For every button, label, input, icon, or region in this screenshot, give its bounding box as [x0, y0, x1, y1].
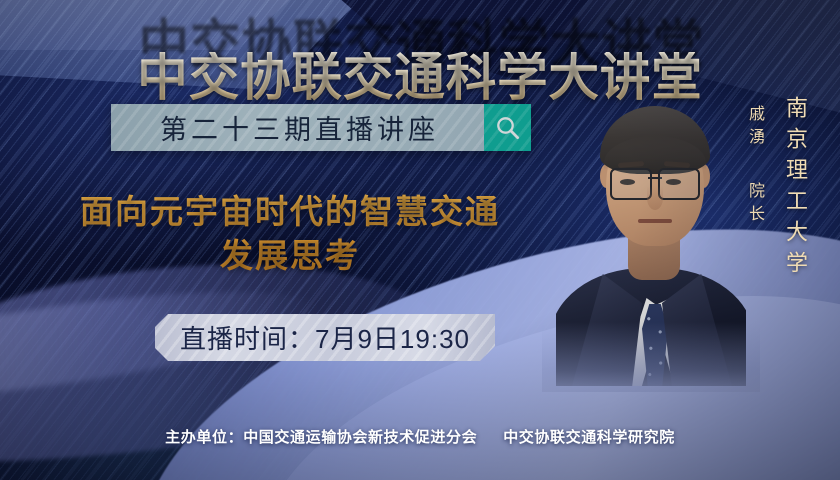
portrait-figure — [556, 86, 746, 386]
speaker-organization: 南京理工大学 — [779, 96, 811, 282]
portrait-hair — [600, 106, 710, 174]
session-bar-body: 第二十三期直播讲座 — [111, 104, 484, 151]
portrait-lens-right — [658, 168, 700, 200]
footer-organizer-2: 中交协联交通科学研究院 — [503, 429, 675, 446]
livestream-poster: 中交协联交通科学大讲堂 中交协联交通科学大讲堂 第二十三期直播讲座 面向元宇宙时… — [0, 0, 840, 480]
portrait-mouth — [638, 219, 672, 223]
livestream-time-banner: 直播时间：7月9日19:30 — [155, 314, 495, 361]
portrait-nose — [647, 186, 663, 210]
footer-organizer-1: 中国交通运输协会新技术促进分会 — [243, 429, 477, 446]
lecture-title-line-2: 发展思考 — [30, 234, 550, 278]
search-icon[interactable] — [484, 104, 531, 151]
speaker-portrait — [556, 86, 746, 386]
portrait-lens-left — [610, 168, 652, 200]
lecture-title: 面向元宇宙时代的智慧交通 发展思考 — [30, 190, 550, 277]
session-bar-label: 第二十三期直播讲座 — [156, 108, 439, 147]
footer-prefix: 主办单位： — [165, 429, 243, 446]
session-bar[interactable]: 第二十三期直播讲座 — [111, 104, 531, 151]
livestream-time-text: 直播时间：7月9日19:30 — [180, 319, 470, 356]
lecture-title-line-1: 面向元宇宙时代的智慧交通 — [30, 190, 550, 234]
main-title: 中交协联交通科学大讲堂 — [13, 52, 828, 104]
speaker-name: 戚湧 — [742, 105, 766, 151]
speaker-role: 院长 — [742, 182, 766, 228]
footer-organizers: 主办单位：中国交通运输协会新技术促进分会中交协联交通科学研究院 — [0, 426, 840, 447]
